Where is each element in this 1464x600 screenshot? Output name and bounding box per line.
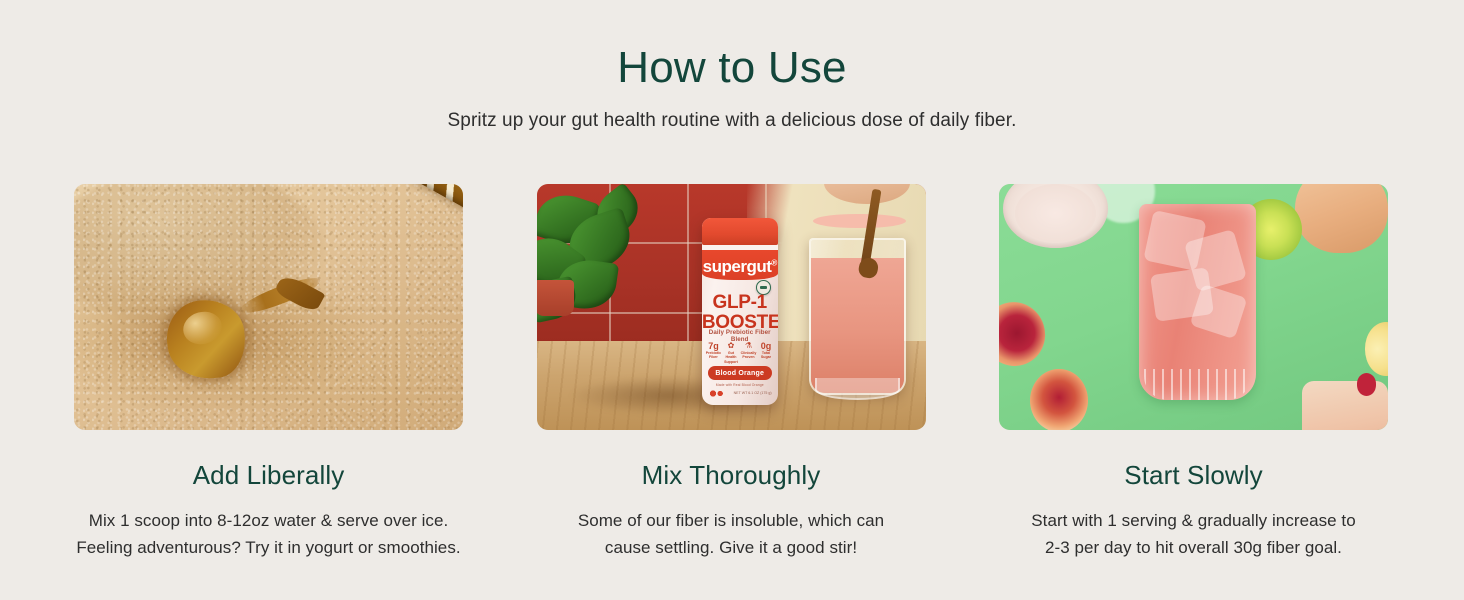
- cherry-garnish: [1357, 373, 1376, 395]
- how-to-use-section: How to Use Spritz up your gut health rou…: [0, 0, 1464, 600]
- step-card-start-slowly: Start Slowly Start with 1 serving & grad…: [999, 184, 1388, 561]
- jar-brand-name: supergut®: [702, 257, 778, 277]
- step-description: Mix 1 scoop into 8-12oz water & serve ov…: [76, 507, 460, 561]
- step-image-iced-drink: [999, 184, 1388, 430]
- step-card-add-liberally: Add Liberally Mix 1 scoop into 8-12oz wa…: [74, 184, 463, 561]
- terracotta-pot: [537, 280, 574, 316]
- badge-total-sugar: 0g Total Sugar: [758, 341, 774, 360]
- jar-net-weight: NET WT 6.1 OZ (175 g): [734, 391, 772, 395]
- badge-prebiotic-fiber: 7g Prebiotic Fiber: [706, 341, 722, 360]
- step-description: Start with 1 serving & gradually increas…: [1031, 507, 1355, 561]
- page-subtitle: Spritz up your gut health routine with a…: [0, 108, 1464, 134]
- product-line-1: GLP-1: [702, 293, 778, 313]
- badge-value: 0g: [758, 341, 774, 351]
- registered-mark: ®: [771, 258, 776, 267]
- gut-health-icon: ✿: [723, 341, 739, 351]
- step-card-mix-thoroughly: supergut® GLP-1 BOOSTER Daily Prebiotic …: [537, 184, 926, 561]
- badge-clinically-proven: ⚗ Clinically Proven: [741, 341, 757, 360]
- jar-benefit-badges: 7g Prebiotic Fiber ✿ Gut Health Support …: [706, 341, 774, 365]
- badge-caption: Total Sugar: [758, 351, 774, 360]
- drink-surface: [813, 214, 906, 229]
- badge-gut-health: ✿ Gut Health Support: [723, 341, 739, 365]
- badge-value: 7g: [706, 341, 722, 351]
- product-jar: supergut® GLP-1 BOOSTER Daily Prebiotic …: [702, 218, 778, 405]
- jar-lid-inner-ring: [1015, 184, 1097, 243]
- houseplant: [537, 189, 661, 351]
- section-header: How to Use Spritz up your gut health rou…: [0, 42, 1464, 134]
- step-image-jar-on-counter: supergut® GLP-1 BOOSTER Daily Prebiotic …: [537, 184, 926, 430]
- step-title: Mix Thoroughly: [642, 459, 821, 491]
- blood-orange-slice: [1030, 369, 1088, 431]
- jar-flavor-banner: Blood Orange: [708, 366, 772, 380]
- step-image-powder: [74, 184, 463, 430]
- drink-glass: [809, 238, 906, 395]
- steps-grid: Add Liberally Mix 1 scoop into 8-12oz wa…: [74, 184, 1388, 561]
- step-title: Start Slowly: [1124, 459, 1262, 491]
- glass-foot: [815, 378, 901, 400]
- kitchen-photo: supergut® GLP-1 BOOSTER Daily Prebiotic …: [537, 184, 926, 430]
- jar-lid: [702, 218, 778, 244]
- powder-photo: [74, 184, 463, 430]
- step-description: Some of our fiber is insoluble, which ca…: [578, 507, 884, 561]
- jar-product-name: GLP-1 BOOSTER: [702, 293, 778, 333]
- flask-icon: ⚗: [741, 341, 757, 351]
- step-title: Add Liberally: [193, 459, 345, 491]
- pink-drink: [811, 258, 904, 392]
- blood-orange-flower-icon: [709, 387, 726, 400]
- iced-pink-drink-glass: [1139, 204, 1256, 401]
- badge-caption: Clinically Proven: [741, 351, 757, 360]
- iced-drink-photo: [999, 184, 1388, 430]
- badge-caption: Prebiotic Fiber: [706, 351, 722, 360]
- page-title: How to Use: [0, 42, 1464, 94]
- badge-caption: Gut Health Support: [723, 351, 739, 365]
- brand-text: supergut: [703, 257, 772, 276]
- glass-fluted-base: [1144, 369, 1251, 400]
